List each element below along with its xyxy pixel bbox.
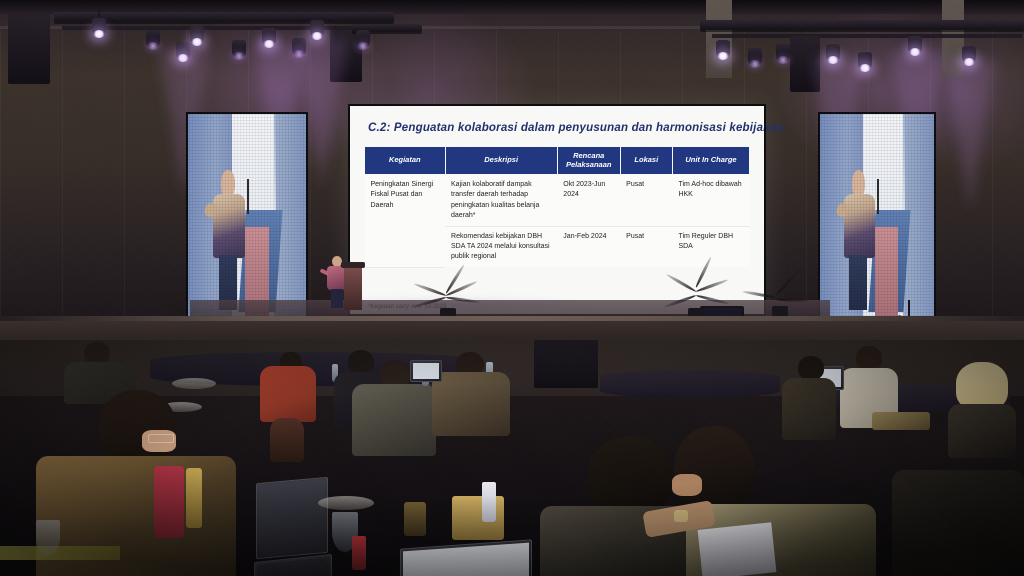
attendee-hijab — [946, 362, 1016, 458]
stage-lamp — [146, 30, 160, 47]
laptop-screen[interactable] — [413, 363, 439, 379]
feed-microphone — [247, 179, 249, 215]
laptop-lid — [410, 360, 442, 382]
attendee-head — [84, 342, 110, 364]
attendee-head — [674, 426, 754, 512]
palm-plant-center — [764, 288, 794, 318]
feed-microphone — [877, 179, 879, 215]
plate — [172, 378, 216, 389]
laptop-screen[interactable] — [257, 557, 329, 576]
feed-speaker-head — [221, 170, 235, 198]
laptop-lid — [400, 539, 532, 576]
feed-podium-banner — [875, 227, 899, 316]
podium — [344, 266, 362, 310]
stage-lamp — [310, 20, 324, 37]
attendee-head — [98, 390, 176, 464]
feed-speaker-torso — [213, 194, 245, 257]
feed-speaker — [844, 170, 875, 308]
cell-rencana: Okt 2023-Jun 2024 — [557, 175, 620, 227]
attendee-foreground-far-right — [892, 470, 1024, 576]
column-header-deskripsi: Deskripsi — [445, 147, 557, 175]
slide-title: C.2: Penguatan kolaborasi dalam penyusun… — [368, 122, 750, 134]
attendee-head — [798, 356, 824, 380]
sauce-bottle — [352, 536, 366, 570]
stage-lamp — [262, 28, 276, 45]
attendee-body — [352, 384, 436, 456]
stage-lamp — [716, 40, 730, 57]
table-header-row: Kegiatan Deskripsi Rencana Pelaksanaan L… — [365, 147, 750, 175]
column-header-rencana-pelaksanaan: Rencana Pelaksanaan — [557, 147, 620, 175]
banquet-table — [600, 370, 780, 398]
line-array-speaker-left — [8, 14, 50, 84]
column-header-unit-in-charge: Unit In Charge — [672, 147, 749, 175]
column-header-kegiatan: Kegiatan — [365, 147, 446, 175]
truss-bar-right — [712, 34, 1022, 38]
palm-plant-left — [432, 286, 466, 320]
cell-lokasi: Pusat — [620, 226, 672, 267]
stage-lamp — [776, 44, 790, 61]
attendee-head — [856, 346, 882, 370]
right-led-screen — [818, 112, 936, 334]
cell-unit: Tim Reguler DBH SDA — [672, 226, 749, 267]
eyeglasses — [148, 434, 174, 443]
thermos — [404, 502, 426, 536]
seated-audience — [0, 340, 1024, 576]
floor-speaker — [534, 340, 598, 388]
snack-bag — [452, 496, 504, 540]
column-header-lokasi: Lokasi — [620, 147, 672, 175]
laptop-screen[interactable] — [403, 543, 529, 576]
stage-lamp — [92, 18, 106, 35]
stage-lamp — [190, 26, 204, 43]
feed-speaker-torso — [844, 194, 875, 257]
attendee-body — [892, 470, 1024, 576]
attendee-standing — [256, 348, 322, 458]
slide-table: Kegiatan Deskripsi Rencana Pelaksanaan L… — [364, 146, 750, 268]
hijab — [956, 362, 1008, 410]
attendee — [432, 352, 510, 436]
light-truss-right — [700, 20, 1024, 30]
cell-unit: Tim Ad-hoc dibawah HKK — [672, 175, 749, 227]
snack-box — [872, 412, 930, 430]
wristwatch — [674, 510, 688, 522]
stage-lamp — [356, 30, 370, 47]
cell-rencana: Jan-Feb 2024 — [557, 226, 620, 267]
table-row: Peningkatan Sinergi Fiskal Pusat dan Dae… — [365, 175, 750, 227]
cell-deskripsi: Kajian kolaboratif dampak transfer daera… — [445, 175, 557, 227]
cell-deskripsi: Rekomendasi kebijakan DBH SDA TA 2024 me… — [445, 226, 557, 267]
attendee-face — [672, 474, 702, 496]
attendee-body — [948, 404, 1016, 458]
feed-speaker — [213, 170, 245, 308]
stage-lamp — [232, 40, 246, 57]
red-scarf — [154, 466, 184, 538]
laptop-screen[interactable] — [259, 480, 325, 556]
palm-plant-right — [680, 282, 718, 320]
cell-lokasi: Pusat — [620, 175, 672, 227]
camera-feed-right — [818, 112, 936, 334]
palm-frond — [776, 298, 810, 302]
sanitizer-bottle — [482, 482, 496, 522]
tumbler — [186, 468, 202, 528]
attendee-legs — [270, 418, 304, 462]
conference-hall-photo: C.2: Penguatan kolaborasi dalam penyusun… — [0, 0, 1024, 576]
attendee-batik — [432, 372, 510, 436]
feed-speaker-head — [852, 170, 865, 198]
drinking-glass — [36, 520, 60, 556]
paper-document — [698, 522, 777, 576]
feed-speaker-legs — [849, 255, 867, 310]
attendee-batik-red — [260, 366, 316, 422]
stage-lamp — [748, 48, 762, 65]
stage-platform-edge — [0, 316, 1024, 321]
plate — [318, 496, 374, 510]
notebook — [0, 546, 120, 560]
cell-kegiatan: Peningkatan Sinergi Fiskal Pusat dan Dae… — [365, 175, 446, 267]
speaker-legs — [331, 289, 343, 308]
stage-lamp — [908, 36, 922, 53]
light-beam — [944, 60, 996, 210]
wall-column-left — [706, 0, 732, 78]
laptop-lid — [256, 477, 328, 559]
